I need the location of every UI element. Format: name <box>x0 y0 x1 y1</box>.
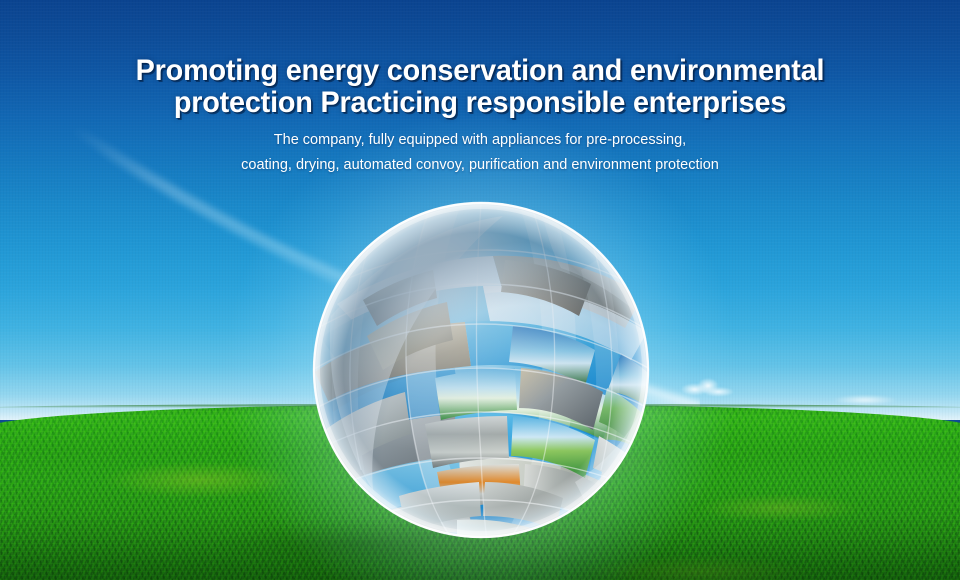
subtitle-line-1: The company, fully equipped with applian… <box>274 132 686 148</box>
subtitle-line-2: coating, drying, automated convoy, purif… <box>0 153 960 178</box>
photo-globe <box>307 196 655 544</box>
page-title: Promoting energy conservation and enviro… <box>19 56 941 118</box>
globe-svg <box>307 196 655 544</box>
headline-line-2: protection Practicing responsible enterp… <box>19 88 941 118</box>
promo-banner: Promoting energy conservation and enviro… <box>0 0 960 580</box>
cloud-icon <box>681 377 733 397</box>
headline-line-1: Promoting energy conservation and enviro… <box>136 54 825 87</box>
page-subtitle: The company, fully equipped with applian… <box>0 128 960 178</box>
cloud-haze <box>820 392 910 408</box>
